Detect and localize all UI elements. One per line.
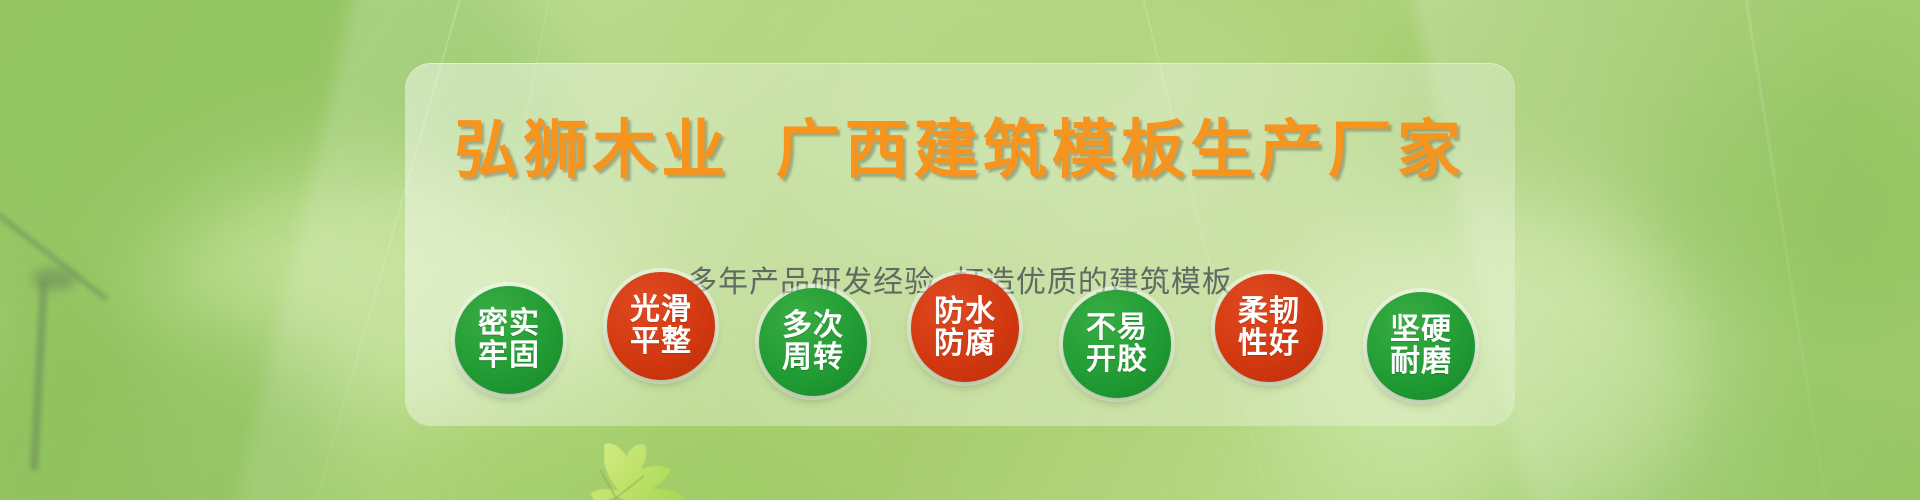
feature-badge: 柔韧性好 [1215,274,1323,382]
feature-badge: 密实牢固 [455,286,563,394]
page-title: 弘狮木业 广西建筑模板生产厂家 [405,118,1515,182]
promotional-banner: 弘狮木业 广西建筑模板生产厂家 多年产品研发经验 打造优质的建筑模板 密实牢固光… [0,0,1920,500]
feature-badge-line2: 耐磨 [1390,346,1452,378]
feature-badge: 多次周转 [759,288,867,396]
feature-badge-line1: 光滑 [630,294,692,326]
branch-decoration [32,268,76,290]
feature-badge-line2: 平整 [630,326,692,358]
feature-badge-line2: 开胶 [1086,344,1148,376]
feature-badge: 不易开胶 [1063,290,1171,398]
feature-badge-line1: 柔韧 [1238,296,1300,328]
feature-badge-line2: 性好 [1238,328,1300,360]
feature-badge-line2: 周转 [782,342,844,374]
feature-badge: 防水防腐 [911,274,1019,382]
feature-badge-row: 密实牢固光滑平整多次周转防水防腐不易开胶柔韧性好坚硬耐磨 [455,286,1475,406]
feature-badge-line1: 多次 [782,310,844,342]
feature-badge-line2: 牢固 [478,340,540,372]
feature-badge-line1: 密实 [478,308,540,340]
feature-badge: 光滑平整 [607,272,715,380]
feature-badge-line1: 不易 [1086,312,1148,344]
feature-badge: 坚硬耐磨 [1367,292,1475,400]
feature-badge-line1: 坚硬 [1390,314,1452,346]
feature-badge-line2: 防腐 [934,328,996,360]
feature-badge-line1: 防水 [934,296,996,328]
